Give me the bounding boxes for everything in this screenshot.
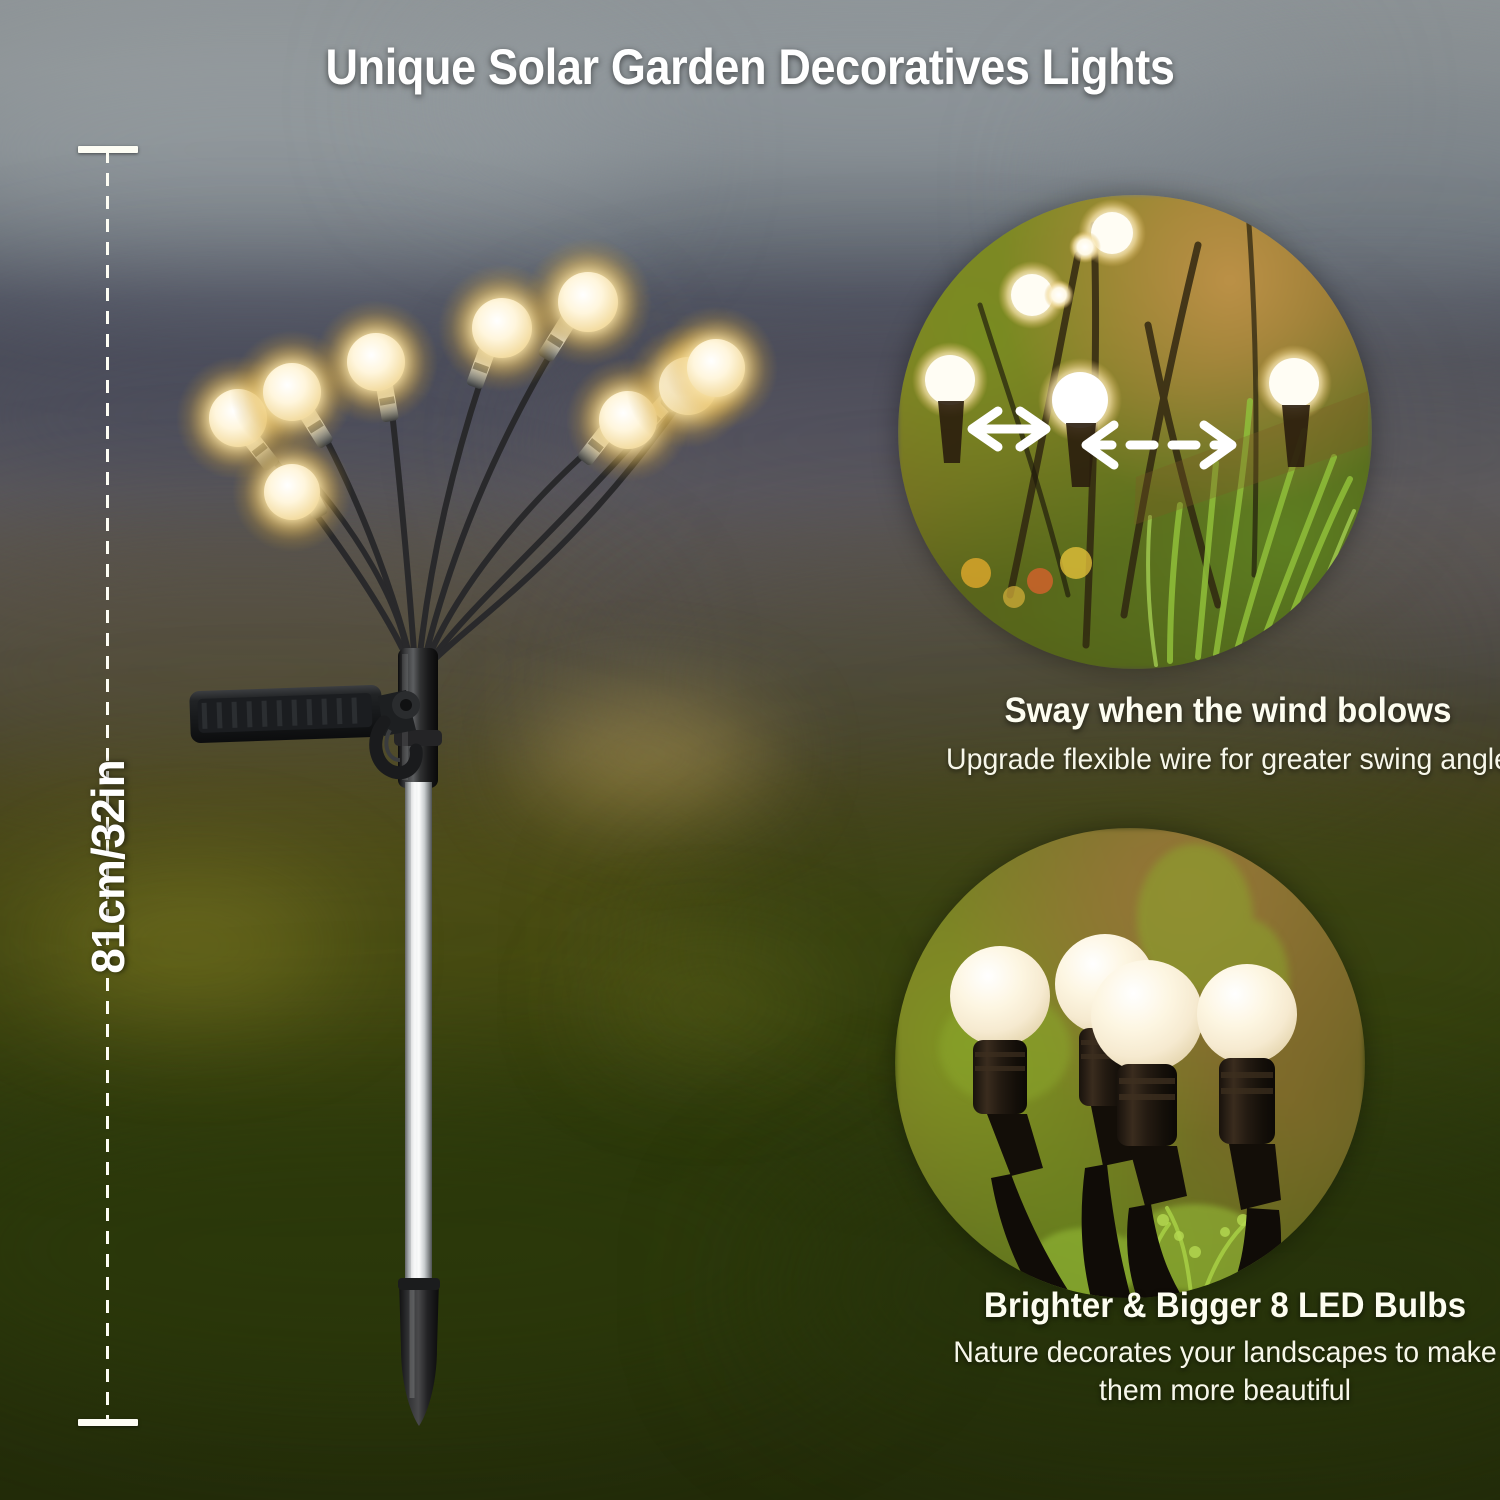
feature-bulbs-photo [895, 828, 1365, 1298]
short-solid-double-arrow [972, 411, 1046, 447]
feature-bulbs-title: Brighter & Bigger 8 LED Bulbs [912, 1286, 1500, 1326]
solar-panel-assembly [189, 685, 420, 773]
height-measurement-ruler: 81cm/32in [74, 140, 144, 1430]
product-image [140, 130, 740, 1450]
long-dashed-double-arrow [1086, 425, 1232, 465]
feature-sway: Sway when the wind bolows Upgrade flexib… [898, 195, 1500, 755]
stake-pole [405, 782, 432, 1288]
feature-bulbs: Brighter & Bigger 8 LED Bulbs Nature dec… [895, 828, 1500, 1448]
closeup-led-bulbs [895, 828, 1365, 1298]
bulb-4 [1197, 964, 1297, 1298]
stake-ground-tip [398, 1278, 440, 1426]
bulb-1 [950, 946, 1073, 1298]
feature-bulbs-subtitle-line2: them more beautiful [912, 1372, 1500, 1410]
ruler-bottom-cap [78, 1419, 138, 1426]
feature-sway-photo [898, 195, 1372, 669]
feature-sway-title: Sway when the wind bolows [915, 691, 1500, 731]
feature-bulbs-subtitle-line1: Nature decorates your landscapes to make [912, 1334, 1500, 1372]
page-title: Unique Solar Garden Decoratives Lights [75, 38, 1425, 96]
feature-sway-subtitle: Upgrade flexible wire for greater swing … [915, 741, 1500, 779]
ruler-label: 81cm/32in [81, 737, 135, 997]
sway-arrow-annotations [898, 195, 1372, 669]
